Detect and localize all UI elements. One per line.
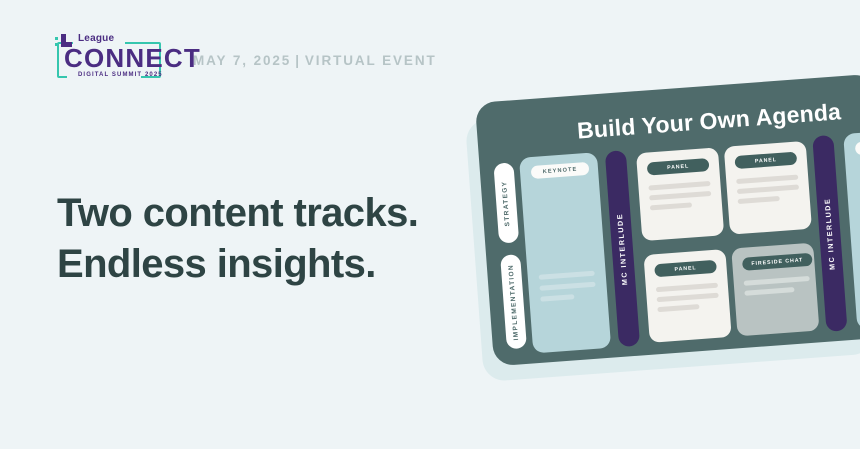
agenda-column-interlude-2: MC INTERLUDE xyxy=(812,135,847,332)
placeholder-line xyxy=(656,283,718,293)
session-chip-panel: PANEL xyxy=(734,152,797,170)
placeholder-line xyxy=(744,287,794,296)
session-label-fireside-chat: FIRESIDE CHAT xyxy=(751,257,803,267)
headline-line-2: Endless insights. xyxy=(57,239,418,290)
agenda-board: Build Your Own Agenda STRATEGY IMPLEMENT… xyxy=(475,74,860,367)
placeholder-line xyxy=(539,282,595,291)
league-connect-logo: League CONNECT DIGITAL SUMMIT 2025 xyxy=(52,34,167,82)
headline-line-1: Two content tracks. xyxy=(57,188,418,239)
session-card-fireside-chat: FIRESIDE CHAT xyxy=(731,243,819,337)
session-label-mc-interlude: MC INTERLUDE xyxy=(615,212,629,285)
placeholder-line xyxy=(744,276,810,286)
event-meta: MAY 7, 2025|VIRTUAL EVENT xyxy=(193,49,437,68)
session-label-panel: PANEL xyxy=(674,265,696,273)
session-label-panel: PANEL xyxy=(667,163,689,171)
agenda-column-keynote-1: KEYNOTE xyxy=(519,152,611,353)
placeholder-line xyxy=(737,185,799,195)
placeholder-line xyxy=(648,181,710,191)
agenda-columns: KEYNOTE MC INTERLUDE PANEL xyxy=(519,129,860,354)
session-card-panel-2: PANEL xyxy=(724,141,812,235)
banner-header: League CONNECT DIGITAL SUMMIT 2025 MAY 7… xyxy=(52,34,437,82)
placeholder-line xyxy=(736,175,798,185)
session-chip-panel: PANEL xyxy=(647,158,710,176)
track-label-strategy: STRATEGY xyxy=(501,180,511,226)
hero-banner: League CONNECT DIGITAL SUMMIT 2025 MAY 7… xyxy=(0,0,860,449)
track-pill-strategy: STRATEGY xyxy=(493,162,519,243)
session-chip-panel: PANEL xyxy=(654,260,717,278)
logo-wordmark: CONNECT xyxy=(64,45,201,71)
agenda-illustration: Build Your Own Agenda STRATEGY IMPLEMENT… xyxy=(462,72,860,402)
meta-separator: | xyxy=(291,53,305,68)
placeholder-line xyxy=(657,304,699,312)
placeholder-line xyxy=(657,293,719,303)
logo-tagline: DIGITAL SUMMIT 2025 xyxy=(78,72,163,78)
event-format: VIRTUAL EVENT xyxy=(305,53,437,68)
track-label-implementation: IMPLEMENTATION xyxy=(507,263,520,340)
session-label-keynote: KEYNOTE xyxy=(542,166,577,175)
placeholder-line xyxy=(540,294,574,301)
session-chip-keynote: KEYNOTE xyxy=(855,138,860,155)
track-pill-implementation: IMPLEMENTATION xyxy=(500,254,527,349)
session-chip-fireside-chat: FIRESIDE CHAT xyxy=(742,253,813,271)
session-card-panel-3: PANEL xyxy=(643,249,731,343)
placeholder-line xyxy=(649,191,711,201)
session-chip-keynote: KEYNOTE xyxy=(531,162,590,179)
placeholder-line xyxy=(738,196,780,204)
session-label-panel: PANEL xyxy=(755,157,777,165)
hero-headline: Two content tracks. Endless insights. xyxy=(57,188,418,290)
agenda-column-keynote-2: KEYNOTE xyxy=(843,128,860,329)
event-date: MAY 7, 2025 xyxy=(193,53,291,68)
placeholder-line xyxy=(539,271,595,280)
session-label-mc-interlude: MC INTERLUDE xyxy=(823,197,837,270)
placeholder-line xyxy=(650,202,692,210)
agenda-column-interlude-1: MC INTERLUDE xyxy=(605,150,640,347)
session-card-panel-1: PANEL xyxy=(636,147,724,241)
